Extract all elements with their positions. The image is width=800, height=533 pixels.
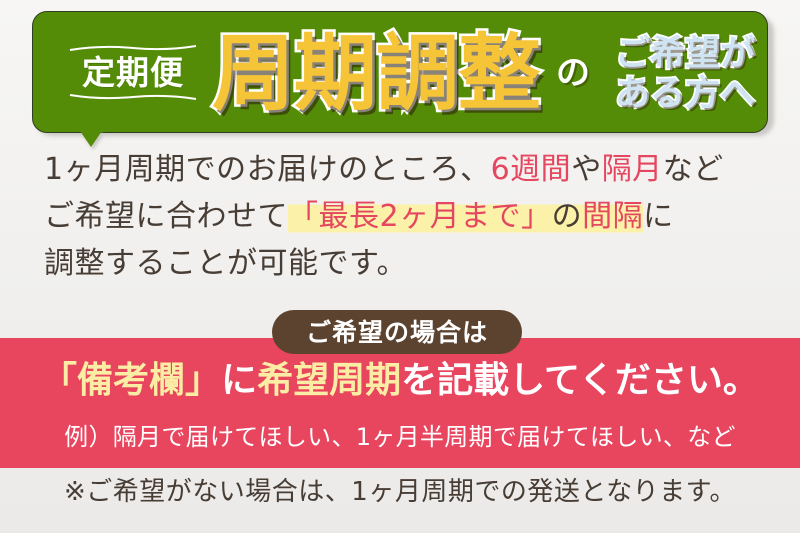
desc1-plain-c: など	[663, 152, 724, 187]
instruction-tail: を記載してください。	[401, 360, 759, 401]
description-paragraph: 1ヶ月周期でのお届けのところ、6週間や隔月など ご希望に合わせて「最長2ヶ月まで…	[0, 146, 800, 306]
speech-tail	[80, 131, 102, 147]
request-case-pill-label: ご希望の場合は	[306, 320, 488, 345]
desc2-highlight-interval: 間隔	[582, 199, 643, 234]
desc2-highlight-particle: の	[552, 199, 583, 234]
description-line-1: 1ヶ月周期でのお届けのところ、6週間や隔月など	[44, 146, 756, 193]
remarks-field-term: 「備考欄」	[41, 360, 221, 401]
desc1-plain-a: 1ヶ月周期でのお届けのところ、	[44, 152, 491, 187]
header-connector-particle: の	[556, 56, 590, 90]
header-audience-note: ご希望が ある方へ	[596, 26, 774, 122]
request-instruction-headline: 「備考欄」に希望周期を記載してください。	[0, 360, 800, 401]
page-title: 周期調整	[212, 32, 540, 115]
header-banner: 定期便 周期調整 の ご希望が ある方へ	[0, 0, 800, 148]
subscription-badge-label: 定期便	[82, 52, 184, 93]
default-shipping-note: ※ご希望がない場合は、1ヶ月周期での発送となります。	[0, 478, 800, 507]
wavy-rule-bottom-icon	[69, 93, 197, 101]
desc2-highlight-max-two-months: 「最長2ヶ月まで」	[288, 199, 552, 234]
desc2-plain-a: ご希望に合わせて	[44, 199, 288, 234]
description-line-2: ご希望に合わせて「最長2ヶ月まで」の間隔に	[44, 193, 756, 240]
request-case-pill: ご希望の場合は	[272, 310, 522, 354]
wavy-rule-top-icon	[69, 44, 197, 52]
desc1-accent-every-other-month: 隔月	[602, 152, 663, 187]
desc1-accent-six-weeks: 6週間	[491, 152, 572, 187]
header-title-wrap: 周期調整	[206, 18, 546, 128]
description-line-3: 調整することが可能です。	[44, 240, 756, 287]
subscription-badge: 定期便	[62, 34, 204, 110]
desc2-plain-b: に	[643, 199, 674, 234]
desc1-plain-b: や	[571, 152, 602, 187]
audience-line-1: ご希望が	[615, 35, 755, 74]
audience-line-2: ある方へ	[615, 75, 755, 114]
desired-cycle-term: 希望周期	[257, 360, 401, 401]
request-example-text: 例）隔月で届けてほしい、1ヶ月半周期で届けてほしい、など	[0, 424, 800, 450]
instruction-particle: に	[221, 360, 257, 401]
